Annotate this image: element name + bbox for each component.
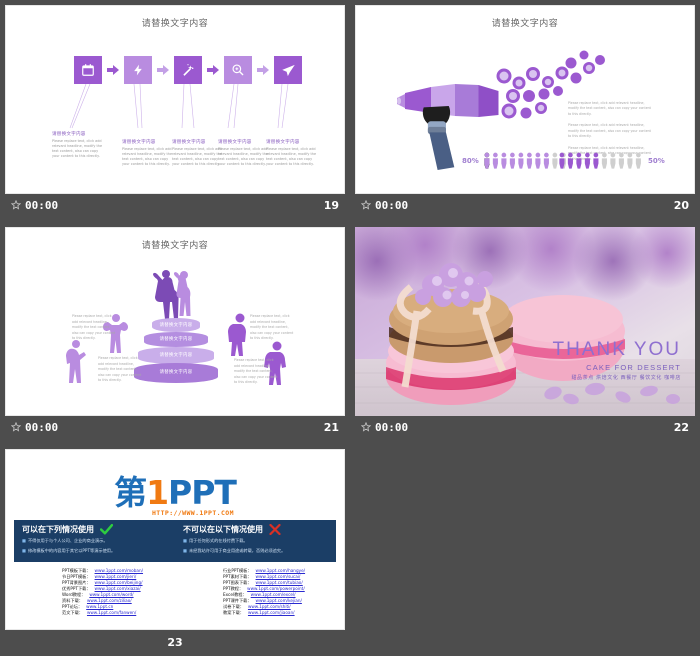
pyramid-chart: 请替换文字内容 请替换文字内容 请替换文字内容 请替换文字内容 bbox=[134, 318, 218, 384]
slide-card-20[interactable]: 请替换文字内容 bbox=[355, 5, 695, 216]
step-caption-cn: 请替换文字内容 bbox=[122, 139, 174, 145]
footer-left: 00:00 bbox=[361, 421, 408, 434]
usage-allow-header: 可以在下列情况使用 bbox=[22, 524, 167, 535]
macaron-photo bbox=[355, 227, 695, 416]
page-number: 19 bbox=[324, 199, 339, 212]
usage-bar: 可以在下列情况使用 ■不得仅用于与个人公司、企业的商业演示。 ■修改模板中的内容… bbox=[14, 520, 336, 562]
timer-label: 00:00 bbox=[25, 421, 58, 434]
chain-arrow-4 bbox=[257, 65, 269, 75]
stat-label-left: 80% bbox=[462, 157, 479, 165]
step-box-4[interactable] bbox=[224, 56, 252, 84]
person-silhouette-present bbox=[66, 338, 90, 384]
leader-lines bbox=[6, 84, 345, 136]
slide-cell-22[interactable]: THANK YOU CAKE FOR DESSERT 甜品茶点 烘焙文化 西餐厅… bbox=[350, 222, 700, 444]
side-note-1: Please replace text, click add relevant … bbox=[72, 314, 116, 342]
usage-allow-item-2: ■修改模板中的内容用于其它以PPT等演示使用。 bbox=[22, 547, 167, 555]
slide-canvas-19[interactable]: 请替换文字内容 bbox=[5, 5, 345, 194]
pyramid-tier-4[interactable]: 请替换文字内容 bbox=[134, 363, 218, 383]
check-icon bbox=[100, 524, 113, 535]
star-icon[interactable] bbox=[361, 200, 371, 210]
person-silhouette-stand bbox=[228, 312, 252, 356]
slide-canvas-23[interactable]: 第1PPT HTTP://WWW.1PPT.COM 可以在下列情况使用 ■不得仅… bbox=[5, 449, 345, 630]
step-box-3[interactable] bbox=[174, 56, 202, 84]
paper-plane-icon bbox=[281, 63, 296, 78]
step-caption-en: Please replace text, click add relevant … bbox=[52, 139, 104, 159]
usage-deny-item-2: ■未经我站许可用于商业用途或转载，否则必须追究。 bbox=[183, 547, 328, 555]
star-icon[interactable] bbox=[11, 200, 21, 210]
timer-label: 00:00 bbox=[375, 199, 408, 212]
step-caption-en: Please replace text, click add relevant … bbox=[218, 147, 270, 167]
people-bar-right bbox=[558, 152, 644, 169]
chain-arrow-2 bbox=[157, 65, 169, 75]
link-row[interactable]: 教案下载：www.1ppt.com/jiaoan/ bbox=[223, 610, 336, 616]
usage-allow-item-1: ■不得仅用于与个人公司、企业的商业演示。 bbox=[22, 537, 167, 545]
page-number: 23 bbox=[5, 636, 345, 649]
usage-deny-title: 不可以在以下情况使用 bbox=[183, 524, 263, 535]
star-icon[interactable] bbox=[11, 422, 21, 432]
search-zoom-icon bbox=[231, 63, 245, 77]
slide-canvas-21[interactable]: 请替换文字内容 请替换文字内容 bbox=[5, 227, 345, 416]
thank-you-subline-cn: 甜品茶点 烘焙文化 西餐厅 餐饮文化 咖啡店 bbox=[571, 374, 681, 381]
footer-left: 00:00 bbox=[361, 199, 408, 212]
step-caption-3: 请替换文字内容 Please replace text, click add r… bbox=[172, 139, 224, 167]
side-note-3: Please replace text, click add relevant … bbox=[250, 314, 294, 342]
pyramid-tier-1[interactable]: 请替换文字内容 bbox=[152, 318, 200, 332]
brand-logo: 第1PPT HTTP://WWW.1PPT.COM bbox=[6, 466, 344, 514]
slide-cell-20[interactable]: 请替换文字内容 bbox=[350, 0, 700, 222]
page-number: 20 bbox=[674, 199, 689, 212]
side-note-4: Please replace text, click add relevant … bbox=[234, 358, 278, 386]
step-caption-1: 请替换文字内容 Please replace text, click add r… bbox=[52, 131, 104, 159]
photo-graphic bbox=[355, 227, 695, 416]
brand-url[interactable]: HTTP://WWW.1PPT.COM bbox=[152, 509, 234, 517]
page-title: 请替换文字内容 bbox=[6, 16, 344, 29]
step-caption-cn: 请替换文字内容 bbox=[218, 139, 270, 145]
brand-one: 1 bbox=[146, 473, 168, 512]
slide-card-23[interactable]: 第1PPT HTTP://WWW.1PPT.COM 可以在下列情况使用 ■不得仅… bbox=[5, 449, 345, 649]
link-row[interactable]: 范文下载：www.1ppt.com/fanwen/ bbox=[62, 610, 175, 616]
step-box-1[interactable] bbox=[74, 56, 102, 84]
usage-deny-item-1: ■用于任何形式的在线付费下载。 bbox=[183, 537, 328, 545]
process-chain bbox=[74, 56, 302, 84]
slide-cell-23[interactable]: 第1PPT HTTP://WWW.1PPT.COM 可以在下列情况使用 ■不得仅… bbox=[0, 444, 350, 656]
step-caption-cn: 请替换文字内容 bbox=[52, 131, 104, 137]
cross-icon bbox=[269, 524, 281, 535]
side-note-2: Please replace text, click add relevant … bbox=[98, 356, 142, 384]
usage-deny-header: 不可以在以下情况使用 bbox=[183, 524, 328, 535]
timer-label: 00:00 bbox=[25, 199, 58, 212]
chain-arrow-1 bbox=[107, 65, 119, 75]
usage-deny-column: 不可以在以下情况使用 ■用于任何形式的在线付费下载。 ■未经我站许可用于商业用途… bbox=[175, 520, 336, 562]
paragraph-1: Please replace text, click add relevant … bbox=[568, 101, 654, 117]
chain-arrow-3 bbox=[207, 65, 219, 75]
step-caption-2: 请替换文字内容 Please replace text, click add r… bbox=[122, 139, 174, 167]
brand-text: 第1PPT HTTP://WWW.1PPT.COM bbox=[114, 466, 236, 514]
magic-wand-icon bbox=[181, 63, 195, 77]
stat-group-left: 80% bbox=[462, 152, 569, 169]
page-title: 请替换文字内容 bbox=[6, 238, 344, 251]
slide-footer-19: 00:00 19 bbox=[5, 194, 345, 216]
slide-canvas-22[interactable]: THANK YOU CAKE FOR DESSERT 甜品茶点 烘焙文化 西餐厅… bbox=[355, 227, 695, 416]
slide-card-19[interactable]: 请替换文字内容 bbox=[5, 5, 345, 216]
step-caption-en: Please replace text, click add relevant … bbox=[172, 147, 224, 167]
slide-footer-20: 00:00 20 bbox=[355, 194, 695, 216]
thank-you-headline: THANK YOU bbox=[552, 339, 681, 361]
step-box-5[interactable] bbox=[274, 56, 302, 84]
hand-arm-graphic bbox=[418, 106, 460, 170]
slide-card-22[interactable]: THANK YOU CAKE FOR DESSERT 甜品茶点 烘焙文化 西餐厅… bbox=[355, 227, 695, 438]
step-caption-en: Please replace text, click add relevant … bbox=[266, 147, 318, 167]
thank-you-subline: CAKE FOR DESSERT bbox=[586, 363, 681, 372]
page-number: 22 bbox=[674, 421, 689, 434]
empty-cell bbox=[350, 444, 700, 656]
lightning-icon bbox=[132, 63, 145, 77]
slide-canvas-20[interactable]: 请替换文字内容 bbox=[355, 5, 695, 194]
pyramid-tier-2-label: 请替换文字内容 bbox=[144, 336, 208, 342]
brand-cn: 第 bbox=[114, 473, 146, 512]
step-caption-5: 请替换文字内容 Please replace text, click add r… bbox=[266, 139, 318, 167]
slide-card-21[interactable]: 请替换文字内容 请替换文字内容 bbox=[5, 227, 345, 438]
timer-label: 00:00 bbox=[375, 421, 408, 434]
pyramid-tier-3[interactable]: 请替换文字内容 bbox=[138, 347, 214, 364]
page-title: 请替换文字内容 bbox=[356, 16, 694, 29]
usage-allow-title: 可以在下列情况使用 bbox=[22, 524, 94, 535]
star-icon[interactable] bbox=[361, 422, 371, 432]
people-bar-left bbox=[483, 152, 569, 169]
slide-cell-19[interactable]: 请替换文字内容 bbox=[0, 0, 350, 222]
footer-left: 00:00 bbox=[11, 421, 58, 434]
step-caption-en: Please replace text, click add relevant … bbox=[122, 147, 174, 167]
step-box-2[interactable] bbox=[124, 56, 152, 84]
stat-label-right: 50% bbox=[648, 157, 665, 165]
usage-allow-column: 可以在下列情况使用 ■不得仅用于与个人公司、企业的商业演示。 ■修改模板中的内容… bbox=[14, 520, 175, 562]
celebrating-people-icon bbox=[151, 268, 203, 320]
page-number: 21 bbox=[324, 421, 339, 434]
pyramid-tier-4-label: 请替换文字内容 bbox=[134, 369, 218, 375]
brand-ppt: PPT bbox=[168, 473, 236, 512]
step-caption-4: 请替换文字内容 Please replace text, click add r… bbox=[218, 139, 270, 167]
stat-group-right: 50% bbox=[558, 152, 665, 169]
paragraph-2: Please replace text, click add relevant … bbox=[568, 123, 654, 139]
slide-footer-22: 00:00 22 bbox=[355, 416, 695, 438]
slide-cell-21[interactable]: 请替换文字内容 请替换文字内容 bbox=[0, 222, 350, 444]
slide-footer-21: 00:00 21 bbox=[5, 416, 345, 438]
pyramid-tier-1-label: 请替换文字内容 bbox=[152, 322, 200, 328]
pyramid-tier-2[interactable]: 请替换文字内容 bbox=[144, 332, 208, 347]
pyramid-tier-3-label: 请替换文字内容 bbox=[138, 352, 214, 358]
link-column-2: 行业PPT模板：www.1ppt.com/hangye/ PPT素材下载：www… bbox=[175, 568, 336, 616]
slide-thumbnail-grid: 请替换文字内容 bbox=[0, 0, 700, 656]
step-caption-cn: 请替换文字内容 bbox=[172, 139, 224, 145]
footer-left: 00:00 bbox=[11, 199, 58, 212]
calendar-icon bbox=[81, 63, 95, 77]
step-caption-cn: 请替换文字内容 bbox=[266, 139, 318, 145]
resource-links: PPT模板下载：www.1ppt.com/moban/ 节日PPT模板：www.… bbox=[14, 568, 336, 616]
link-column-1: PPT模板下载：www.1ppt.com/moban/ 节日PPT模板：www.… bbox=[14, 568, 175, 616]
